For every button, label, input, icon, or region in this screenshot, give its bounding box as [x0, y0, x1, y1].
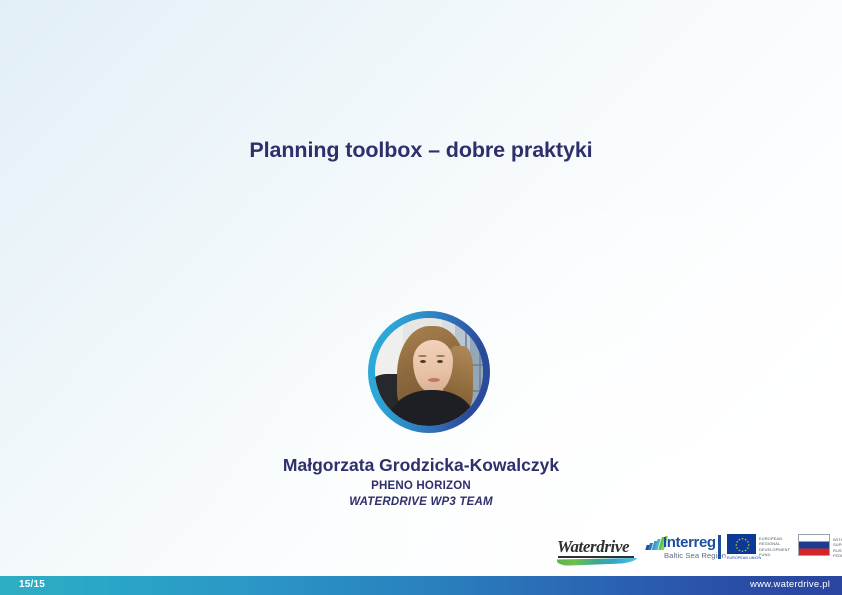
interreg-subtitle: Baltic Sea Region	[664, 551, 726, 560]
avatar-image-frame	[375, 318, 483, 426]
eu-flag-icon	[727, 534, 756, 554]
russian-federation-logo: WITH FINANCIAL SUPPORT OF THE RUSSIAN FE…	[798, 534, 842, 568]
speaker-team: WATERDRIVE WP3 TEAM	[0, 496, 842, 508]
interreg-rule	[718, 535, 721, 559]
waterdrive-wave-icon	[557, 558, 637, 566]
footer-website-link[interactable]: www.waterdrive.pl	[750, 579, 830, 590]
presentation-slide: Planning toolbox – dobre praktyki	[0, 0, 842, 595]
slide-number: 15/15	[19, 579, 45, 590]
waterdrive-logo: Waterdrive	[557, 535, 637, 567]
interreg-logo: Interreg Baltic Sea Region	[646, 534, 718, 568]
slide-content: Planning toolbox – dobre praktyki	[0, 0, 842, 595]
interreg-wordmark: Interreg	[663, 534, 716, 551]
eu-flag-label: EUROPEAN UNION	[727, 556, 756, 560]
waterdrive-wordmark: Waterdrive	[557, 537, 629, 557]
logo-strip: Waterdrive Interreg Baltic Sea Region EU…	[557, 532, 842, 570]
eu-flag-block: EUROPEAN UNION	[727, 534, 756, 554]
speaker-name: Małgorzata Grodzicka-Kowalczyk	[0, 455, 842, 476]
avatar	[368, 311, 490, 433]
eu-fund-caption: EUROPEAN REGIONAL DEVELOPMENT FUND	[759, 534, 787, 557]
page-title: Planning toolbox – dobre praktyki	[0, 138, 842, 163]
speaker-organization: PHENO HORIZON	[0, 480, 842, 492]
russia-flag-icon	[798, 534, 830, 556]
speaker-photo	[375, 318, 483, 426]
waterdrive-underline	[558, 556, 634, 558]
russia-support-caption: WITH FINANCIAL SUPPORT OF THE RUSSIAN FE…	[833, 534, 842, 558]
european-union-logo: EUROPEAN UNION EUROPEAN REGIONAL DEVELOP…	[727, 534, 789, 568]
slide-footer: 15/15 www.waterdrive.pl	[0, 576, 842, 595]
